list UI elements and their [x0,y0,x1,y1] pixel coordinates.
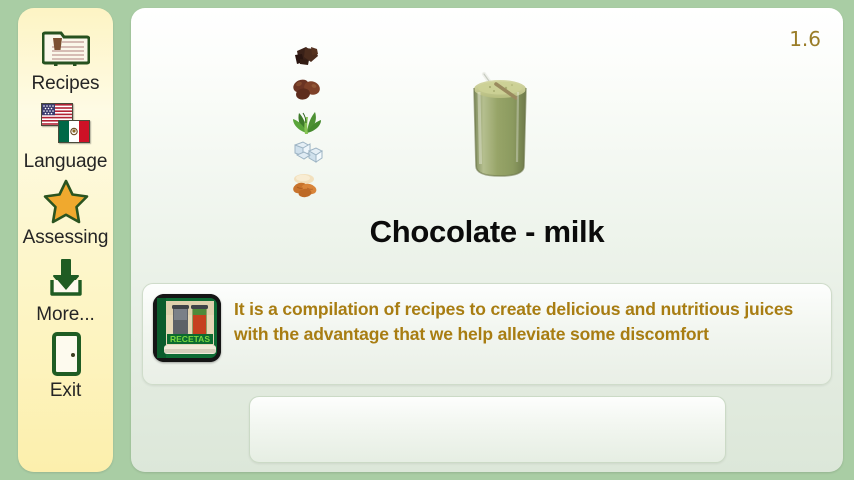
download-icon [42,254,90,302]
recipe-title: Chocolate - milk [131,214,843,250]
app-root: Recipes [0,0,854,480]
app-icon-caption: RECETAS [170,334,210,344]
nuts-image [285,169,329,200]
sidebar-item-label: Language [24,151,108,173]
main-panel: 1.6 [131,8,843,472]
ice-cubes-image [285,137,329,168]
version-label: 1.6 [789,27,821,51]
sidebar-item-more[interactable]: More... [18,254,113,326]
sidebar-item-label: Exit [50,380,81,402]
door-icon [42,330,90,378]
sidebar-item-label: Assessing [23,227,109,249]
sidebar-item-language[interactable]: Language [18,101,113,173]
sidebar-item-assessing[interactable]: Assessing [18,177,113,249]
spinach-leaves-image [285,105,329,136]
sidebar: Recipes [18,8,113,472]
sidebar-item-exit[interactable]: Exit [18,330,113,402]
green-smoothie-glass-image [452,60,548,184]
dates-image [285,73,329,104]
recipe-card-icon [42,22,90,70]
sidebar-item-label: More... [36,304,94,326]
chocolate-chunks-image [285,41,329,72]
description-card[interactable]: RECETAS It is a compilation of recipes t… [142,283,832,385]
mexico-flag-icon [58,120,90,143]
sidebar-item-label: Recipes [32,73,100,95]
flags-icon [40,101,92,149]
ad-banner-panel[interactable] [249,396,726,463]
description-text: It is a compilation of recipes to create… [234,293,819,347]
ingredient-list [279,41,335,201]
star-icon [42,177,90,225]
sidebar-item-recipes[interactable]: Recipes [18,22,113,95]
recetas-app-icon: RECETAS [153,294,221,362]
